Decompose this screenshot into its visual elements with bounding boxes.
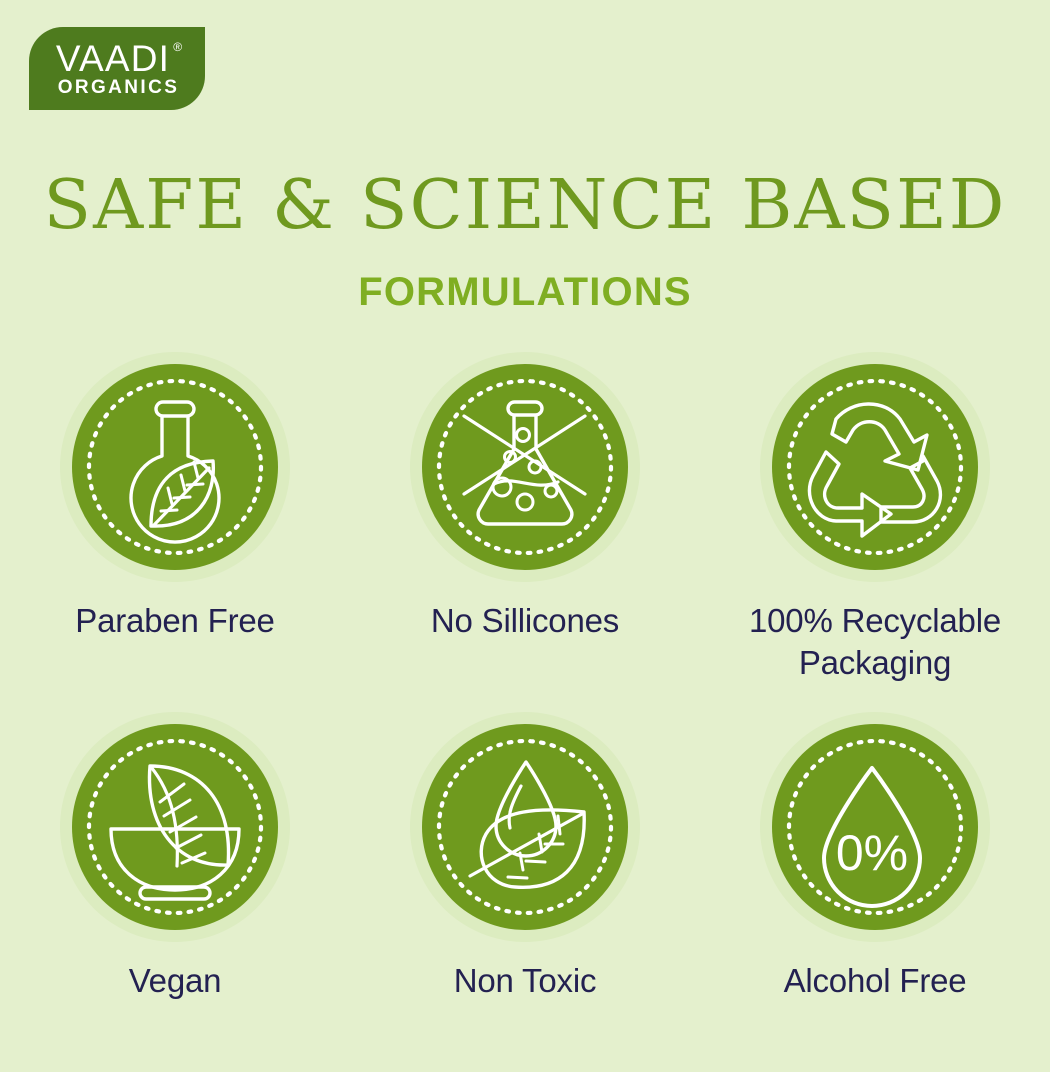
badge-non-toxic[interactable]: Non Toxic [350, 712, 700, 1072]
brand-name: VAADI® [56, 40, 178, 77]
badge-label: 100% Recyclable Packaging [725, 600, 1025, 684]
badge-halo: 0% [760, 712, 990, 942]
droplet-zero-percent-icon: 0% [772, 724, 978, 930]
badge-disc [72, 724, 278, 930]
flask-leaf-icon [72, 364, 278, 570]
badge-label: Paraben Free [75, 600, 274, 642]
badge-halo [760, 352, 990, 582]
brand-logo[interactable]: VAADI® ORGANICS [29, 27, 205, 110]
droplet-leaf-icon [422, 724, 628, 930]
badge-disc [422, 724, 628, 930]
droplet-inner-label: 0% [836, 825, 908, 881]
badge-halo [60, 352, 290, 582]
brand-name-text: VAADI [56, 38, 170, 79]
badge-disc [72, 364, 278, 570]
badge-vegan[interactable]: Vegan [0, 712, 350, 1072]
badge-alcohol-free[interactable]: 0% Alcohol Free [700, 712, 1050, 1072]
badge-recyclable-packaging[interactable]: 100% Recyclable Packaging [700, 352, 1050, 712]
badge-label: No Sillicones [431, 600, 619, 642]
page-title: SAFE & SCIENCE BASED [0, 172, 1050, 240]
badge-label: Vegan [129, 960, 222, 1002]
badge-halo [410, 352, 640, 582]
badge-disc [772, 364, 978, 570]
badge-no-sillicones[interactable]: No Sillicones [350, 352, 700, 712]
brand-tagline: ORGANICS [55, 78, 180, 97]
recycle-icon [772, 364, 978, 570]
badge-label: Alcohol Free [784, 960, 967, 1002]
badge-disc [422, 364, 628, 570]
crossed-out-beaker-icon [422, 364, 628, 570]
page-subtitle: FORMULATIONS [0, 272, 1050, 312]
badge-label: Non Toxic [454, 960, 597, 1002]
bowl-leaf-icon [72, 724, 278, 930]
badge-disc: 0% [772, 724, 978, 930]
badge-paraben-free[interactable]: Paraben Free [0, 352, 350, 712]
feature-badge-grid: Paraben Free [0, 352, 1050, 1072]
badge-halo [410, 712, 640, 942]
registered-trademark-icon: ® [173, 41, 182, 53]
badge-halo [60, 712, 290, 942]
